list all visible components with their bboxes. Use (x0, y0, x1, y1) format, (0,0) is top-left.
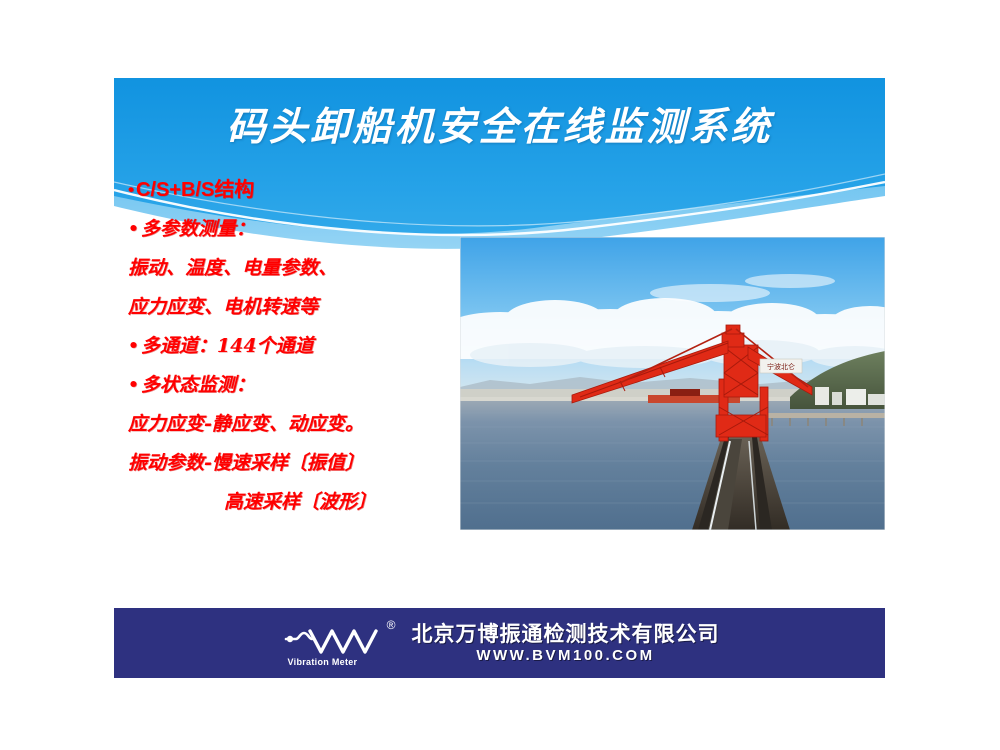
list-item: 应力应变、电机转速等 (128, 288, 488, 327)
vibration-meter-logo: ® Vibration Meter (280, 619, 398, 667)
list-item: 多状态监测： (128, 366, 488, 405)
list-item: 振动、温度、电量参数、 (128, 249, 488, 288)
registered-trademark-icon: ® (387, 619, 396, 631)
footer-bar: ® Vibration Meter 北京万博振通检测技术有限公司 WWW.BVM… (114, 608, 885, 678)
crane-sign-text: 宁波北仑 (767, 362, 795, 371)
logo-subtitle: Vibration Meter (288, 657, 358, 667)
slide-root: 码头卸船机安全在线监测系统 C/S+B/S结构 多参数测量： 振动、温度、电量参… (0, 0, 1000, 750)
footer-text-block: 北京万博振通检测技术有限公司 WWW.BVM100.COM (412, 623, 720, 663)
list-item: 应力应变-静应变、动应变。 (128, 405, 488, 444)
slide-content-area: 码头卸船机安全在线监测系统 C/S+B/S结构 多参数测量： 振动、温度、电量参… (114, 78, 885, 608)
bullet-list: C/S+B/S结构 多参数测量： 振动、温度、电量参数、 应力应变、电机转速等 … (128, 170, 488, 522)
list-item: 高速采样〔波形〕 (128, 483, 488, 522)
company-name: 北京万博振通检测技术有限公司 (412, 623, 720, 644)
list-item: 多通道：144个通道 (128, 327, 488, 366)
company-website[interactable]: WWW.BVM100.COM (476, 648, 654, 663)
list-item: 振动参数-慢速采样〔振值〕 (128, 444, 488, 483)
harbor-unloader-photo: 宁波北仑 (460, 237, 885, 530)
photo-artwork: 宁波北仑 (460, 237, 885, 530)
page-title: 码头卸船机安全在线监测系统 (114, 104, 885, 150)
list-item: 多参数测量： (128, 210, 488, 249)
list-item: C/S+B/S结构 (128, 170, 488, 210)
footer-content: ® Vibration Meter 北京万博振通检测技术有限公司 WWW.BVM… (114, 608, 885, 678)
